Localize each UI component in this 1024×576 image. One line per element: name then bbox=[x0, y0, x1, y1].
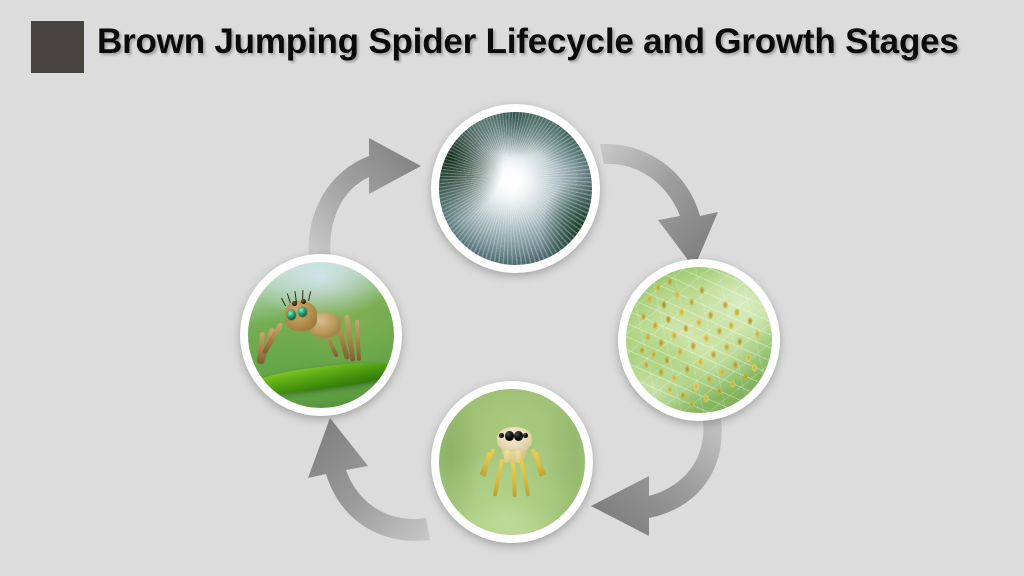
stage-juvenile[interactable] bbox=[431, 381, 593, 543]
arrow-juvenile-to-adult bbox=[296, 408, 436, 553]
adult-leg bbox=[355, 320, 362, 361]
page-title: Brown Jumping Spider Lifecycle and Growt… bbox=[97, 22, 959, 62]
egg-sac-photo bbox=[439, 112, 592, 265]
adult-head-bristle bbox=[308, 291, 311, 301]
arrow-eggsac-to-spiderlings bbox=[596, 136, 736, 276]
adult-spider-photo bbox=[248, 262, 394, 408]
adult-eye-main-right bbox=[298, 307, 307, 317]
title-bar: Brown Jumping Spider Lifecycle and Growt… bbox=[0, 0, 1024, 95]
juvenile-spider-photo bbox=[439, 389, 585, 535]
stage-adult[interactable] bbox=[240, 254, 402, 416]
spiderlings-photo bbox=[626, 267, 772, 413]
arrow-adult-to-eggsac bbox=[295, 128, 435, 268]
leaf bbox=[248, 358, 394, 399]
stage-eggsac[interactable] bbox=[431, 104, 600, 273]
adult-head-bristle bbox=[280, 298, 285, 306]
stage-spiderlings[interactable] bbox=[618, 259, 780, 421]
juvenile-eye-main-left bbox=[505, 431, 514, 441]
arrow-spiderlings-to-juvenile bbox=[585, 414, 730, 559]
spiderling-dots bbox=[626, 267, 772, 413]
adult-head-bristle bbox=[287, 293, 291, 303]
juvenile-eye-main-right bbox=[514, 431, 523, 441]
title-accent-marker bbox=[31, 21, 84, 73]
